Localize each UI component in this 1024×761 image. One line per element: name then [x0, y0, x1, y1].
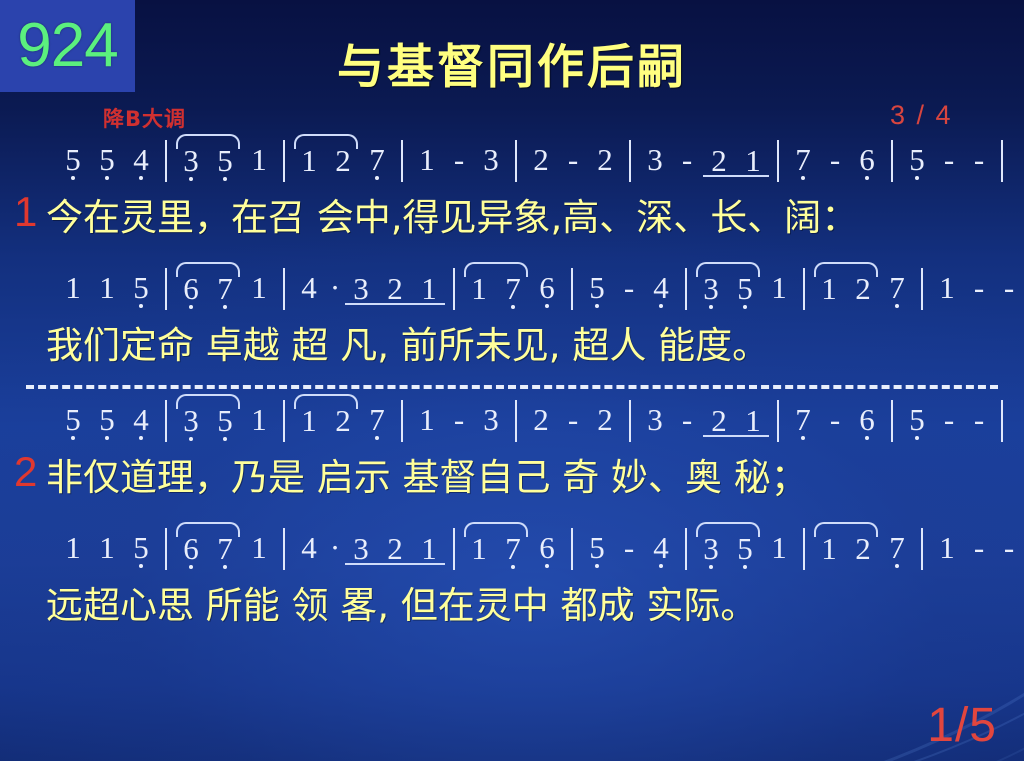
note: 1: [762, 271, 796, 305]
measure: 671: [174, 531, 276, 567]
duration-dash: -: [964, 143, 994, 177]
slur-group: 12: [292, 143, 360, 179]
note-digit: 4: [653, 271, 669, 305]
slur-group: 35: [694, 531, 762, 567]
note: 1: [762, 531, 796, 565]
note: 1: [736, 404, 770, 438]
note-digit: 2: [597, 403, 613, 437]
note-digit: -: [454, 143, 464, 177]
barline: [1001, 140, 1003, 182]
note-digit: -: [830, 403, 840, 437]
note-digit: 5: [909, 143, 925, 177]
note-digit: 7: [795, 403, 811, 437]
note: 5: [56, 143, 90, 177]
note-digit: 1: [251, 271, 267, 305]
duration-dash: -: [994, 271, 1024, 305]
measure: 351: [174, 143, 276, 179]
barline: [453, 528, 455, 570]
note-digit: 7: [505, 272, 521, 306]
note-digit: 6: [183, 532, 199, 566]
key-signature: 降B大调: [103, 103, 186, 133]
note: 7: [880, 271, 914, 305]
note: 5: [208, 404, 242, 438]
note-digit: 1: [821, 272, 837, 306]
note: 2: [326, 404, 360, 438]
note: 1: [412, 532, 446, 566]
duration-dash: -: [558, 403, 588, 437]
note-digit: 7: [505, 532, 521, 566]
note-digit: 3: [703, 272, 719, 306]
note-digit: 2: [711, 404, 727, 438]
barline: [283, 268, 285, 310]
note-digit: -: [944, 143, 954, 177]
note-digit: -: [1004, 271, 1014, 305]
measure: 351: [694, 531, 796, 567]
note-digit: 3: [183, 404, 199, 438]
note: 6: [530, 531, 564, 565]
note: 1: [242, 143, 276, 177]
note-digit: 1: [65, 531, 81, 565]
barline: [401, 140, 403, 182]
note: 7: [786, 143, 820, 177]
note: 1: [90, 271, 124, 305]
note-digit: 1: [771, 271, 787, 305]
note: 2: [378, 272, 412, 306]
note-digit: 3: [183, 144, 199, 178]
barline: [629, 140, 631, 182]
measure: 2-2: [524, 143, 622, 177]
barline: [803, 268, 805, 310]
note: 5: [580, 531, 614, 565]
note: 5: [580, 271, 614, 305]
note: 2: [846, 532, 880, 566]
slide-canvas: 924 与基督同作后嗣 降B大调 3 / 4 1 5543511271-32-2…: [0, 0, 1024, 761]
note: 1: [462, 272, 496, 306]
note-digit: -: [454, 403, 464, 437]
barline: [1001, 400, 1003, 442]
note-digit: 5: [133, 271, 149, 305]
lyric-row: 非仅道理，乃是 启示 基督自己 奇 妙、奥 秘；: [0, 451, 1024, 509]
note-digit: -: [682, 403, 692, 437]
note-digit: -: [624, 271, 634, 305]
barline: [921, 268, 923, 310]
note: 1: [736, 144, 770, 178]
note: 6: [850, 143, 884, 177]
note: 3: [638, 143, 672, 177]
note: 1: [242, 531, 276, 565]
barline: [777, 140, 779, 182]
note-digit: 1: [421, 532, 437, 566]
note-digit: 2: [335, 144, 351, 178]
duration-dash: -: [558, 143, 588, 177]
note: 1: [242, 403, 276, 437]
measure: 127: [812, 531, 914, 567]
slur-group: 12: [292, 403, 360, 439]
measure: 127: [292, 143, 394, 179]
measure: 1-3: [410, 403, 508, 437]
dot-extension: ·: [326, 531, 344, 565]
note: 2: [846, 272, 880, 306]
note-digit: 3: [647, 403, 663, 437]
note: 3: [474, 403, 508, 437]
note: 2: [326, 144, 360, 178]
note-digit: -: [974, 143, 984, 177]
note: 1: [242, 271, 276, 305]
barline: [515, 400, 517, 442]
measure: 7-6: [786, 403, 884, 437]
slur-group: 67: [174, 531, 242, 567]
barline: [401, 400, 403, 442]
note-digit: 4: [653, 531, 669, 565]
note: 2: [702, 144, 736, 178]
note: 4: [644, 531, 678, 565]
note-digit: 5: [65, 143, 81, 177]
note-digit: 3: [647, 143, 663, 177]
note-digit: 5: [589, 531, 605, 565]
barline: [283, 140, 285, 182]
note: 5: [90, 143, 124, 177]
duration-dash: -: [964, 531, 994, 565]
barline: [165, 528, 167, 570]
note-digit: 1: [939, 271, 955, 305]
note-digit: 7: [217, 272, 233, 306]
note-digit: 1: [421, 272, 437, 306]
lyric-row: 今在灵里，在召 会中,得见异象,高、深、长、阔：: [0, 191, 1024, 249]
duration-dash: -: [964, 271, 994, 305]
duration-dash: -: [444, 403, 474, 437]
note-digit: ·: [330, 271, 340, 305]
note-digit: -: [568, 403, 578, 437]
duration-dash: -: [994, 531, 1024, 565]
note-digit: 2: [387, 272, 403, 306]
measure: 7-6: [786, 143, 884, 177]
slur-group: 67: [174, 271, 242, 307]
slur-group: 35: [174, 143, 242, 179]
note: 2: [702, 404, 736, 438]
measure: 554: [56, 143, 158, 177]
slur-group: 12: [812, 271, 880, 307]
note-digit: 1: [745, 144, 761, 178]
note: 2: [524, 143, 558, 177]
note-digit: 1: [471, 272, 487, 306]
lyric-row: 远超心思 所能 领 畧, 但在灵中 都成 实际。: [0, 579, 1024, 637]
note-digit: 7: [795, 143, 811, 177]
note: 5: [900, 143, 934, 177]
page-title: 与基督同作后嗣: [0, 28, 1024, 97]
note: 3: [474, 143, 508, 177]
measure: 5-4: [580, 531, 678, 565]
note: 1: [90, 531, 124, 565]
stanza-1: 1 5543511271-32-23-217-65-- 今在灵里，在召 会中,得…: [0, 143, 1024, 377]
note: 1: [930, 531, 964, 565]
measure: 4·321: [292, 531, 446, 567]
lyric-row: 我们定命 卓越 超 凡, 前所未见, 超人 能度。: [0, 319, 1024, 377]
barline: [165, 268, 167, 310]
note-digit: 1: [301, 404, 317, 438]
note-digit: 6: [859, 143, 875, 177]
notation-row: 1156714·3211765-43511271--: [0, 271, 1024, 319]
note-digit: 7: [889, 531, 905, 565]
note-digit: 2: [533, 143, 549, 177]
measure: 3-21: [638, 403, 770, 439]
note: 7: [496, 272, 530, 306]
note: 7: [360, 403, 394, 437]
note-digit: 4: [133, 143, 149, 177]
note: 4: [124, 403, 158, 437]
barline: [921, 528, 923, 570]
note-digit: 5: [217, 144, 233, 178]
barline: [891, 140, 893, 182]
note-digit: 1: [251, 531, 267, 565]
beamed-note-group: 321: [344, 531, 446, 567]
note-digit: 5: [99, 403, 115, 437]
note: 5: [90, 403, 124, 437]
note: 5: [728, 272, 762, 306]
note: 3: [344, 272, 378, 306]
barline: [629, 400, 631, 442]
note-digit: 3: [353, 272, 369, 306]
note-digit: 5: [217, 404, 233, 438]
note-digit: 1: [251, 143, 267, 177]
note: 5: [124, 531, 158, 565]
note: 1: [292, 144, 326, 178]
note-digit: 6: [539, 271, 555, 305]
note-digit: 6: [539, 531, 555, 565]
note: 7: [360, 143, 394, 177]
note: 6: [530, 271, 564, 305]
dot-extension: ·: [326, 271, 344, 305]
note: 3: [174, 144, 208, 178]
note-digit: 1: [65, 271, 81, 305]
measure: 176: [462, 271, 564, 307]
note-digit: ·: [330, 531, 340, 565]
note-digit: 5: [909, 403, 925, 437]
note-digit: 4: [133, 403, 149, 437]
barline: [165, 400, 167, 442]
note: 1: [412, 272, 446, 306]
note: 1: [930, 271, 964, 305]
note-digit: 5: [99, 143, 115, 177]
barline: [453, 268, 455, 310]
note: 2: [378, 532, 412, 566]
note-digit: 3: [483, 143, 499, 177]
measure: 2-2: [524, 403, 622, 437]
duration-dash: -: [934, 143, 964, 177]
barline: [571, 268, 573, 310]
duration-dash: -: [820, 143, 850, 177]
note-digit: 1: [99, 531, 115, 565]
slur-group: 35: [694, 271, 762, 307]
measure: 5--: [900, 403, 994, 437]
note: 5: [56, 403, 90, 437]
note: 7: [786, 403, 820, 437]
note-digit: 6: [183, 272, 199, 306]
note: 1: [56, 531, 90, 565]
note-digit: 1: [419, 403, 435, 437]
note: 1: [812, 272, 846, 306]
note-digit: 2: [855, 532, 871, 566]
duration-dash: -: [614, 271, 644, 305]
note-digit: 5: [65, 403, 81, 437]
note-digit: 3: [703, 532, 719, 566]
slur-group: 35: [174, 403, 242, 439]
measure: 1--: [930, 271, 1024, 305]
note-digit: 4: [301, 271, 317, 305]
note-digit: 1: [471, 532, 487, 566]
note: 2: [588, 403, 622, 437]
note-digit: 6: [859, 403, 875, 437]
note: 1: [410, 403, 444, 437]
measure: 5-4: [580, 271, 678, 305]
barline: [803, 528, 805, 570]
measure: 351: [694, 271, 796, 307]
note-digit: -: [974, 531, 984, 565]
note-digit: 5: [589, 271, 605, 305]
measure: 1-3: [410, 143, 508, 177]
note: 3: [694, 272, 728, 306]
note-digit: 1: [419, 143, 435, 177]
measure: 671: [174, 271, 276, 307]
duration-dash: -: [934, 403, 964, 437]
note: 4: [292, 271, 326, 305]
note: 1: [410, 143, 444, 177]
slur-group: 17: [462, 531, 530, 567]
note: 1: [56, 271, 90, 305]
note: 3: [174, 404, 208, 438]
note: 3: [694, 532, 728, 566]
note-digit: 1: [99, 271, 115, 305]
measure: 115: [56, 531, 158, 565]
barline: [777, 400, 779, 442]
note-digit: 7: [369, 403, 385, 437]
measure: 351: [174, 403, 276, 439]
note: 6: [850, 403, 884, 437]
slur-group: 12: [812, 531, 880, 567]
measure: 127: [292, 403, 394, 439]
note-digit: -: [830, 143, 840, 177]
measure: 554: [56, 403, 158, 437]
stanza-divider: [26, 385, 998, 389]
note: 1: [812, 532, 846, 566]
music-body: 1 5543511271-32-23-217-65-- 今在灵里，在召 会中,得…: [0, 143, 1024, 637]
notation-row: 5543511271-32-23-217-65--: [0, 403, 1024, 451]
note: 2: [524, 403, 558, 437]
note: 4: [124, 143, 158, 177]
note: 7: [496, 532, 530, 566]
note-digit: 3: [483, 403, 499, 437]
note-digit: 2: [855, 272, 871, 306]
note: 4: [644, 271, 678, 305]
note-digit: 5: [737, 532, 753, 566]
measure: 115: [56, 271, 158, 305]
measure: 3-21: [638, 143, 770, 179]
note-digit: 5: [133, 531, 149, 565]
barline: [891, 400, 893, 442]
note-digit: -: [624, 531, 634, 565]
note: 5: [124, 271, 158, 305]
duration-dash: -: [614, 531, 644, 565]
barline: [685, 528, 687, 570]
barline: [685, 268, 687, 310]
note-digit: 1: [745, 404, 761, 438]
note-digit: 4: [301, 531, 317, 565]
note-digit: 7: [369, 143, 385, 177]
duration-dash: -: [444, 143, 474, 177]
measure: 176: [462, 531, 564, 567]
note-digit: 2: [597, 143, 613, 177]
note-digit: 7: [217, 532, 233, 566]
note-digit: -: [974, 403, 984, 437]
duration-dash: -: [672, 143, 702, 177]
note-digit: 5: [737, 272, 753, 306]
note-digit: 2: [387, 532, 403, 566]
note: 5: [728, 532, 762, 566]
measure: 4·321: [292, 271, 446, 307]
measure: 127: [812, 271, 914, 307]
note: 3: [344, 532, 378, 566]
note-digit: -: [568, 143, 578, 177]
note-digit: -: [944, 403, 954, 437]
note-digit: 1: [821, 532, 837, 566]
barline: [283, 528, 285, 570]
beamed-note-group: 21: [702, 143, 770, 179]
note-digit: -: [682, 143, 692, 177]
note: 5: [208, 144, 242, 178]
note: 3: [638, 403, 672, 437]
barline: [283, 400, 285, 442]
stanza-2: 2 5543511271-32-23-217-65-- 非仅道理，乃是 启示 基…: [0, 403, 1024, 637]
note: 6: [174, 272, 208, 306]
note-digit: 3: [353, 532, 369, 566]
note-digit: 2: [335, 404, 351, 438]
duration-dash: -: [820, 403, 850, 437]
note-digit: 1: [251, 403, 267, 437]
note-digit: 2: [711, 144, 727, 178]
note-digit: -: [974, 271, 984, 305]
slur-group: 17: [462, 271, 530, 307]
time-signature: 3 / 4: [890, 100, 953, 131]
duration-dash: -: [964, 403, 994, 437]
notation-row: 5543511271-32-23-217-65--: [0, 143, 1024, 191]
notation-row: 1156714·3211765-43511271--: [0, 531, 1024, 579]
note-digit: 1: [771, 531, 787, 565]
measure: 1--: [930, 531, 1024, 565]
note-digit: 1: [301, 144, 317, 178]
note-digit: 7: [889, 271, 905, 305]
barline: [571, 528, 573, 570]
note: 1: [462, 532, 496, 566]
note: 6: [174, 532, 208, 566]
measure: 5--: [900, 143, 994, 177]
note: 1: [292, 404, 326, 438]
note: 2: [588, 143, 622, 177]
note: 7: [208, 272, 242, 306]
beamed-note-group: 321: [344, 271, 446, 307]
note-digit: 1: [939, 531, 955, 565]
barline: [515, 140, 517, 182]
barline: [165, 140, 167, 182]
note: 4: [292, 531, 326, 565]
duration-dash: -: [672, 403, 702, 437]
note: 7: [880, 531, 914, 565]
note: 7: [208, 532, 242, 566]
note-digit: -: [1004, 531, 1014, 565]
note-digit: 2: [533, 403, 549, 437]
note: 5: [900, 403, 934, 437]
beamed-note-group: 21: [702, 403, 770, 439]
page-indicator: 1/5: [927, 698, 997, 753]
